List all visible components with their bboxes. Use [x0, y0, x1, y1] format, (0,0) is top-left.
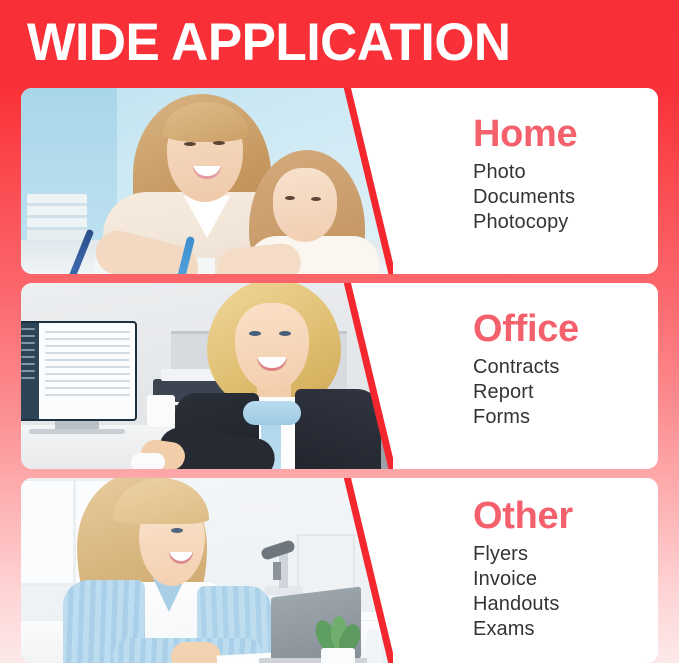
child-eye-left: [285, 196, 295, 200]
card-heading-home: Home: [473, 114, 577, 154]
list-item: Flyers: [473, 542, 559, 567]
list-item: Report: [473, 380, 560, 405]
blazer-right: [295, 389, 381, 469]
woman-eye-right: [279, 331, 291, 336]
application-card-office: Office Contracts Report Forms: [21, 283, 658, 469]
woman-eye: [171, 528, 183, 533]
list-item: Forms: [473, 405, 560, 430]
screen-text-lines: [45, 331, 130, 401]
list-item: Invoice: [473, 567, 559, 592]
list-item: Exams: [473, 617, 559, 642]
photo-canvas: [21, 478, 393, 663]
list-item: Photocopy: [473, 210, 575, 235]
microscope-objective: [273, 562, 281, 580]
photo-woman-with-laptop-in-lab: [21, 478, 393, 663]
child-face: [273, 168, 337, 242]
photo-canvas: [21, 88, 393, 274]
mother-eye-left: [184, 142, 196, 146]
coffee-mug: [147, 395, 175, 427]
card-text-panel: Home Photo Documents Photocopy: [452, 88, 658, 274]
photo-businesswoman-at-desk: [21, 283, 393, 469]
books-stack: [27, 194, 87, 242]
application-card-other: Other Flyers Invoice Handouts Exams: [21, 478, 658, 663]
list-item: Photo: [473, 160, 575, 185]
monitor-screen: [21, 323, 135, 419]
list-item: Documents: [473, 185, 575, 210]
poster-title-container: WIDE APPLICATION: [27, 14, 647, 76]
card-heading-office: Office: [473, 309, 579, 349]
computer-mouse: [131, 453, 165, 469]
card-list-office: Contracts Report Forms: [473, 355, 560, 430]
monitor-base: [29, 429, 125, 434]
card-list-other: Flyers Invoice Handouts Exams: [473, 542, 559, 642]
list-item: Contracts: [473, 355, 560, 380]
photo-canvas: [21, 283, 393, 469]
printer-paper-tray: [161, 369, 217, 381]
woman-eye-left: [249, 331, 261, 336]
photo-mother-and-child-writing: [21, 88, 393, 274]
page-title: WIDE APPLICATION: [27, 14, 628, 72]
screen-sidebar: [21, 323, 39, 419]
poster-root: WIDE APPLICATION: [0, 0, 679, 663]
mother-eye-right: [213, 141, 225, 145]
card-text-panel: Office Contracts Report Forms: [452, 283, 658, 469]
application-card-home: Home Photo Documents Photocopy: [21, 88, 658, 274]
woman-hands: [171, 642, 221, 663]
computer-monitor: [21, 321, 137, 421]
card-text-panel: Other Flyers Invoice Handouts Exams: [452, 478, 658, 663]
plant-pot: [321, 648, 355, 663]
test-tube-left: [367, 630, 379, 663]
card-list-home: Photo Documents Photocopy: [473, 160, 575, 235]
blue-bow-tie: [243, 401, 301, 425]
list-item: Handouts: [473, 592, 559, 617]
window-frame-bar: [73, 478, 76, 586]
child-eye-right: [311, 197, 321, 201]
card-heading-other: Other: [473, 496, 573, 536]
